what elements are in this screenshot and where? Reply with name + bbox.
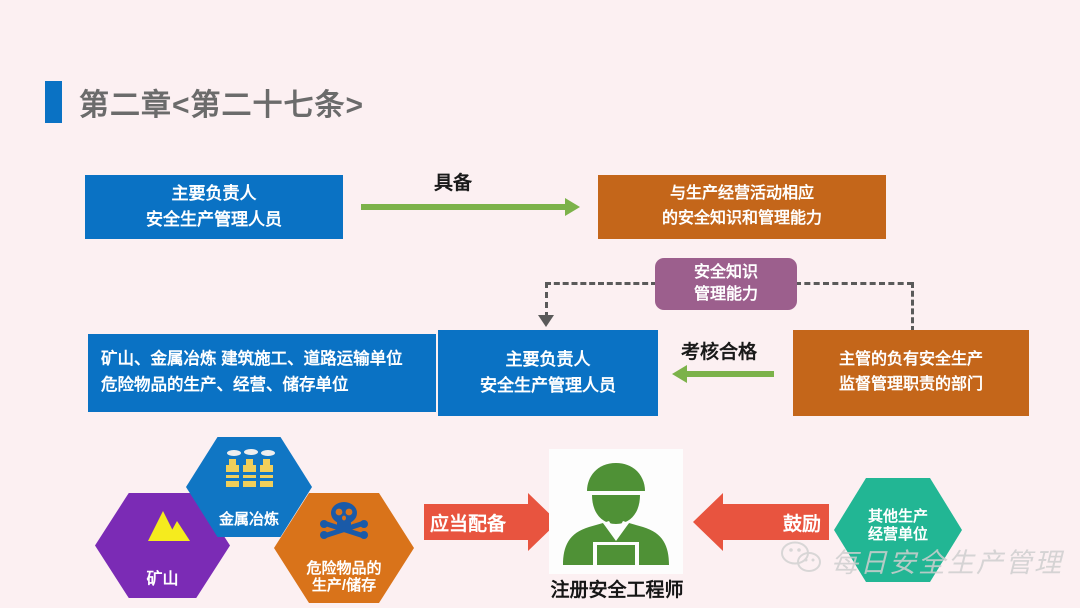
safety-engineer-icon — [549, 449, 683, 574]
dashed-line-left-vertical — [545, 282, 548, 318]
hexagon-metal-label: 金属冶炼 — [219, 511, 279, 537]
title-accent-bar — [45, 81, 62, 123]
right-red-arrow-label: 鼓励 — [783, 509, 821, 536]
factory-icon — [186, 447, 312, 493]
hexagon-mine-label: 矿山 — [146, 571, 178, 598]
page-title: 第二章<第二十七条> — [45, 80, 364, 124]
connector-box: 安全知识 管理能力 — [655, 258, 797, 310]
watermark: 每日安全生产管理 — [780, 540, 1063, 580]
middle-arrow-label: 考核合格 — [681, 337, 757, 364]
authority-line1: 主管的负有安全生产 — [839, 348, 983, 373]
hexagon-danger-line1: 危险物品的 — [306, 560, 381, 577]
connector-line1: 安全知识 — [694, 262, 758, 284]
units-line1: 矿山、金属冶炼 建筑施工、道路运输单位 — [101, 347, 403, 373]
top-arrow-label: 具备 — [434, 168, 472, 195]
units-line2: 危险物品的生产、经营、储存单位 — [101, 373, 349, 399]
dashed-line-right-vertical — [911, 282, 914, 332]
left-red-arrow-label: 应当配备 — [430, 509, 506, 536]
top-source-box: 主要负责人 安全生产管理人员 — [85, 175, 343, 239]
persons-line2: 安全生产管理人员 — [480, 373, 616, 399]
persons-line1: 主要负责人 — [506, 347, 591, 373]
authority-line2: 监督管理职责的部门 — [839, 373, 983, 398]
title-text: 第二章<第二十七条> — [79, 80, 364, 124]
left-red-arrow: 应当配备 — [424, 504, 528, 540]
units-box: 矿山、金属冶炼 建筑施工、道路运输单位 危险物品的生产、经营、储存单位 — [88, 334, 436, 412]
top-target-line1: 与生产经营活动相应 — [670, 182, 814, 207]
right-red-arrow: 鼓励 — [723, 504, 829, 540]
top-source-line2: 安全生产管理人员 — [146, 207, 282, 233]
hexagon-other-line1: 其他生产 — [868, 508, 928, 525]
hexagon-danger-line2: 生产/储存 — [306, 577, 381, 594]
dashed-line-left — [545, 282, 657, 285]
top-green-arrow — [361, 204, 566, 210]
hexagon-danger-label: 危险物品的 生产/储存 — [306, 560, 381, 604]
wechat-icon — [780, 540, 822, 580]
top-source-line1: 主要负责人 — [172, 181, 257, 207]
dashed-arrow-head-down — [538, 315, 554, 327]
watermark-text: 每日安全生产管理 — [831, 541, 1063, 580]
slide-canvas: 第二章<第二十七条> 主要负责人 安全生产管理人员 具备 与生产经营活动相应 的… — [0, 0, 1080, 608]
dashed-line-right — [795, 282, 913, 285]
connector-line2: 管理能力 — [694, 284, 758, 306]
top-target-box: 与生产经营活动相应 的安全知识和管理能力 — [598, 175, 886, 239]
authority-box: 主管的负有安全生产 监督管理职责的部门 — [793, 330, 1029, 416]
middle-green-arrow — [686, 371, 774, 377]
top-target-line2: 的安全知识和管理能力 — [662, 207, 822, 232]
persons-box: 主要负责人 安全生产管理人员 — [438, 330, 658, 416]
engineer-label: 注册安全工程师 — [533, 575, 701, 602]
